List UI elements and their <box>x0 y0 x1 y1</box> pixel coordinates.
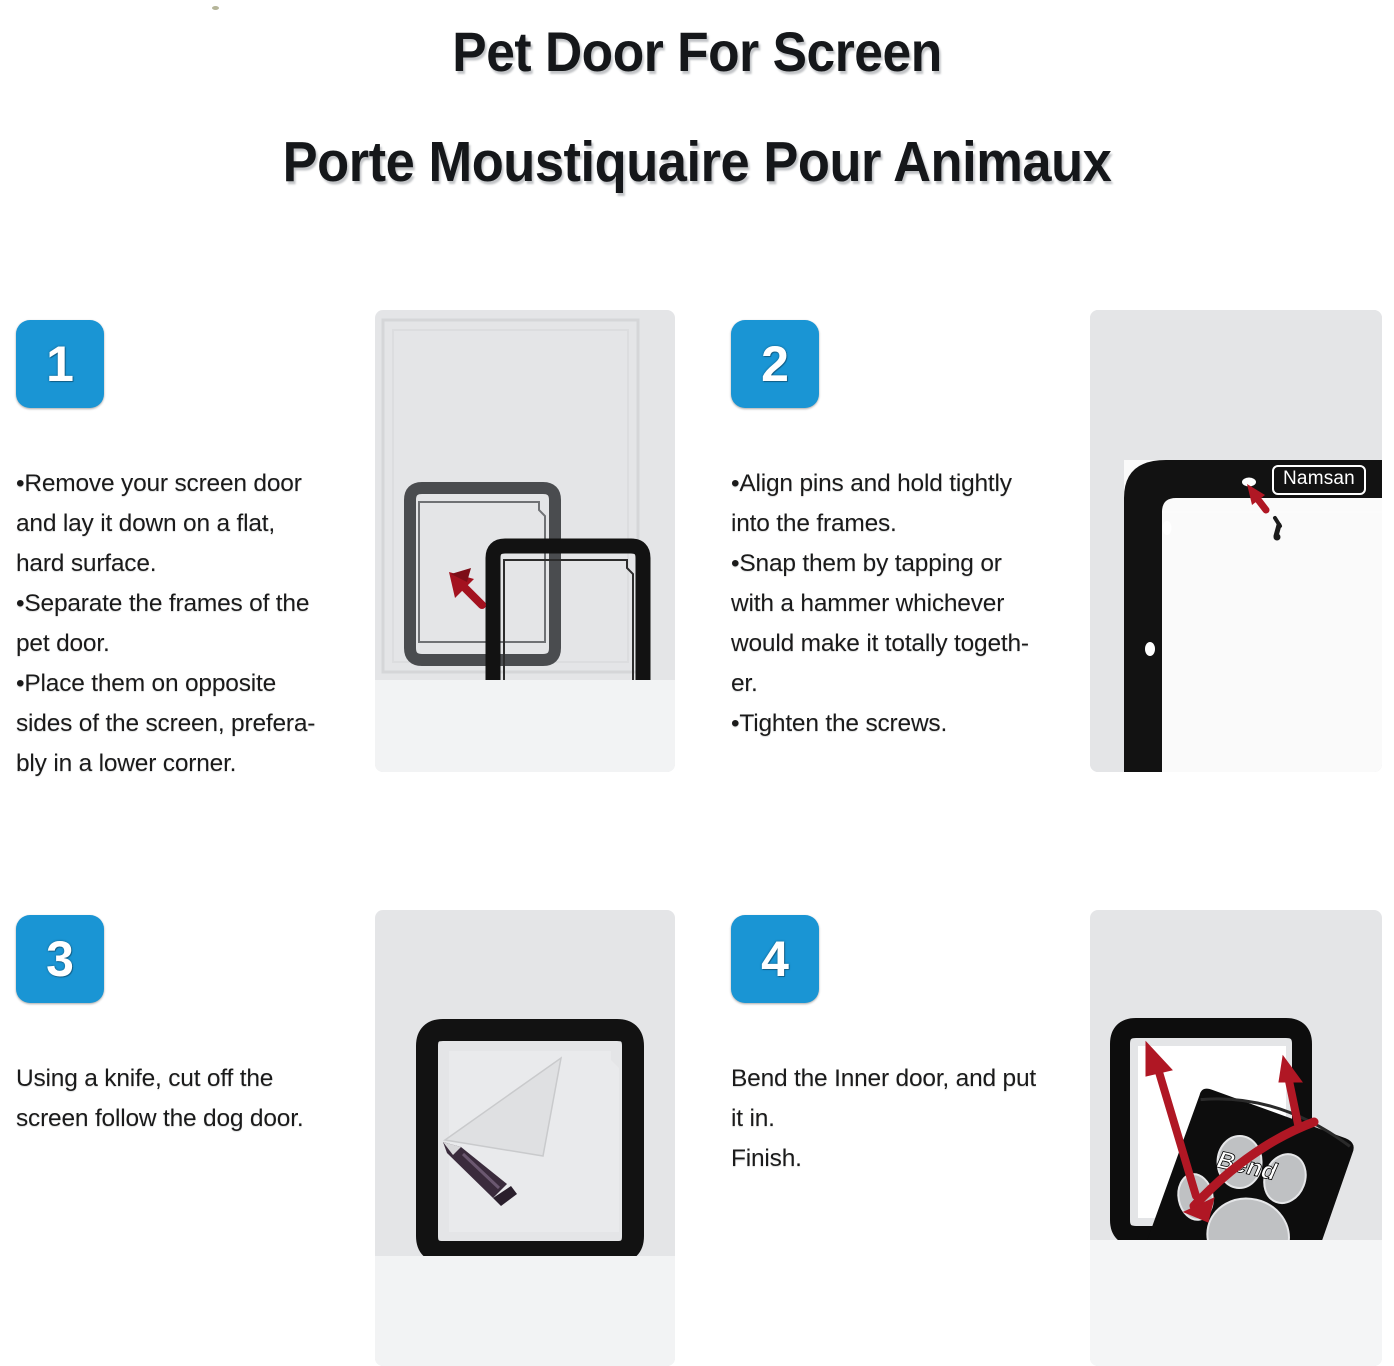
scan-artifact-speck <box>212 6 219 10</box>
step-2-line-1: •Align pins and hold tightly <box>731 464 1081 504</box>
step-2-line-7: •Tighten the screws. <box>731 704 1081 744</box>
step-2-line-3: •Snap them by tapping or <box>731 544 1081 584</box>
step-1-line-2: and lay it down on a flat, <box>16 504 366 544</box>
step-2-line-6: er. <box>731 664 1081 704</box>
step-4-line-1: Bend the Inner door, and put <box>731 1059 1081 1099</box>
title-block: Pet Door For Screen Porte Moustiquaire P… <box>0 0 1394 191</box>
step-3-badge: 3 <box>16 915 104 1003</box>
step-2-line-5: would make it totally togeth- <box>731 624 1081 664</box>
panel-1-floor-band <box>375 680 675 772</box>
page-title-french: Porte Moustiquaire Pour Animaux <box>56 134 1338 191</box>
step-2-illustration <box>1090 310 1382 772</box>
step-2-illustration-panel: Namsan <box>1090 310 1382 772</box>
step-4-number: 4 <box>731 934 819 984</box>
step-3-illustration-panel <box>375 910 675 1366</box>
step-1-text-column: 1 •Remove your screen door and lay it do… <box>16 320 366 784</box>
panel-3-floor-band <box>375 1256 675 1366</box>
step-2-text-column: 2 •Align pins and hold tightly into the … <box>731 320 1081 744</box>
step-4-badge: 4 <box>731 915 819 1003</box>
page-title-english: Pet Door For Screen <box>56 24 1338 80</box>
step-1-line-5: pet door. <box>16 624 366 664</box>
step-3-number: 3 <box>16 934 104 984</box>
pin-hole <box>1163 521 1172 535</box>
step-3-text-column: 3 Using a knife, cut off the screen foll… <box>16 915 366 1139</box>
step-1-badge: 1 <box>16 320 104 408</box>
step-1-illustration-panel <box>375 310 675 772</box>
step-1-number: 1 <box>16 339 104 389</box>
step-1-line-6: •Place them on opposite <box>16 664 366 704</box>
step-4-line-2: it in. <box>731 1099 1081 1139</box>
step-1-line-7: sides of the screen, prefera- <box>16 704 366 744</box>
pin-hole <box>1145 642 1155 656</box>
step-1-line-8: bly in a lower corner. <box>16 744 366 784</box>
red-arrow-icon <box>449 568 482 605</box>
step-2-number: 2 <box>731 339 819 389</box>
step-4-illustration-panel: Bend <box>1090 910 1382 1366</box>
step-2-line-4: with a hammer whichever <box>731 584 1081 624</box>
step-1-line-3: hard surface. <box>16 544 366 584</box>
step-1-line-4: •Separate the frames of the <box>16 584 366 624</box>
step-3-line-1: Using a knife, cut off the <box>16 1059 366 1099</box>
brand-label-namsan: Namsan <box>1272 465 1366 495</box>
step-1-instructions: •Remove your screen door and lay it down… <box>16 464 366 784</box>
step-1-line-1: •Remove your screen door <box>16 464 366 504</box>
pin-hole <box>1242 478 1256 487</box>
step-2-instructions: •Align pins and hold tightly into the fr… <box>731 464 1081 744</box>
step-4-instructions: Bend the Inner door, and put it in. Fini… <box>731 1059 1081 1179</box>
step-3-line-2: screen follow the dog door. <box>16 1099 366 1139</box>
step-2-badge: 2 <box>731 320 819 408</box>
step-4-text-column: 4 Bend the Inner door, and put it in. Fi… <box>731 915 1081 1179</box>
step-2-line-2: into the frames. <box>731 504 1081 544</box>
panel-4-floor-band <box>1090 1240 1382 1366</box>
step-3-instructions: Using a knife, cut off the screen follow… <box>16 1059 366 1139</box>
step-4-line-3: Finish. <box>731 1139 1081 1179</box>
gray-frame <box>410 488 555 660</box>
